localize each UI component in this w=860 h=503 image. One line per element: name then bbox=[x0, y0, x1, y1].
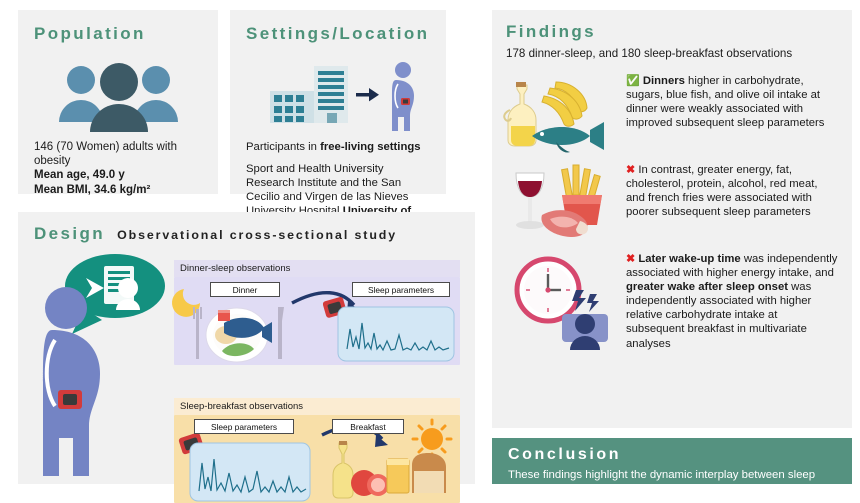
finding-text: ✖ Later wake-up time was independently a… bbox=[626, 252, 838, 351]
conclusion-title: Conclusion bbox=[508, 446, 838, 464]
population-line2: Mean age, 49.0 y bbox=[34, 168, 204, 182]
check-mark-icon: ✅ bbox=[626, 75, 640, 87]
finding-item: ✖ In contrast, greater energy, fat, chol… bbox=[506, 163, 838, 243]
person-with-obesity-accelerometer-icon bbox=[22, 248, 170, 476]
finding-text: ✖ In contrast, greater energy, fat, chol… bbox=[626, 163, 838, 219]
findings-subtitle: 178 dinner-sleep, and 180 sleep-breakfas… bbox=[506, 47, 838, 60]
alarm-clock-tired-person-icon bbox=[506, 252, 610, 352]
findings-list: ✅ Dinners higher in carbohydrate, sugars… bbox=[506, 74, 838, 352]
conclusion-panel: Conclusion These findings highlight the … bbox=[492, 438, 852, 484]
dinner-sleep-label: Dinner-sleep observations bbox=[174, 260, 460, 277]
cross-mark-icon: ✖ bbox=[626, 164, 635, 176]
cross-mark-icon: ✖ bbox=[626, 253, 635, 265]
hospital-building-to-person-icon bbox=[246, 58, 432, 132]
finding-body: In contrast, greater energy, fat, choles… bbox=[626, 164, 818, 218]
settings-lead-prefix: Participants in bbox=[246, 141, 320, 153]
sleep-parameters-chip-2: Sleep parameters bbox=[194, 419, 294, 434]
wine-fries-red-meat-icon bbox=[506, 163, 610, 243]
population-line1: 146 (70 Women) adults with obesity bbox=[34, 140, 204, 168]
design-panel: Design Observational cross-sectional stu… bbox=[18, 212, 475, 484]
design-subtitle: Observational cross-sectional study bbox=[117, 228, 397, 242]
findings-panel: Findings 178 dinner-sleep, and 180 sleep… bbox=[492, 10, 852, 428]
sleep-breakfast-graphic: Sleep parameters Breakfast bbox=[174, 415, 460, 503]
finding-bold-lead: Dinners bbox=[643, 75, 685, 87]
finding-bold-2: greater wake after sleep onset bbox=[626, 281, 788, 293]
settings-lead-bold: free-living settings bbox=[320, 141, 420, 153]
olive-oil-bananas-blue-fish-icon bbox=[506, 74, 610, 154]
population-text: 146 (70 Women) adults with obesity Mean … bbox=[34, 140, 204, 197]
population-title: Population bbox=[34, 24, 204, 44]
population-panel: Population 146 (70 Women) adults with ob… bbox=[18, 10, 218, 194]
sleep-breakfast-subpanel: Sleep-breakfast observations bbox=[174, 398, 460, 503]
settings-location-panel: Settings/Location bbox=[230, 10, 446, 194]
dinner-sleep-graphic: Dinner Sleep parameters bbox=[174, 277, 460, 365]
sleep-breakfast-label: Sleep-breakfast observations bbox=[174, 398, 460, 415]
finding-item: ✅ Dinners higher in carbohydrate, sugars… bbox=[506, 74, 838, 154]
dinner-sleep-subpanel: Dinner-sleep observations bbox=[174, 260, 460, 365]
design-title: Design bbox=[34, 224, 105, 244]
finding-text: ✅ Dinners higher in carbohydrate, sugars… bbox=[626, 74, 838, 130]
sleep-parameters-chip-1: Sleep parameters bbox=[352, 282, 450, 297]
settings-lead: Participants in free-living settings bbox=[246, 140, 432, 154]
dinner-chip: Dinner bbox=[210, 282, 280, 297]
graphical-abstract: Population 146 (70 Women) adults with ob… bbox=[0, 0, 860, 484]
settings-title: Settings/Location bbox=[246, 24, 432, 44]
finding-bold-lead: Later wake-up time bbox=[638, 253, 740, 265]
conclusion-text: These findings highlight the dynamic int… bbox=[508, 468, 838, 482]
findings-title: Findings bbox=[506, 22, 838, 42]
breakfast-chip: Breakfast bbox=[332, 419, 404, 434]
design-header: Design Observational cross-sectional stu… bbox=[34, 224, 475, 244]
population-line3: Mean BMI, 34.6 kg/m² bbox=[34, 183, 204, 197]
finding-item: ✖ Later wake-up time was independently a… bbox=[506, 252, 838, 352]
people-group-icon bbox=[34, 60, 204, 134]
